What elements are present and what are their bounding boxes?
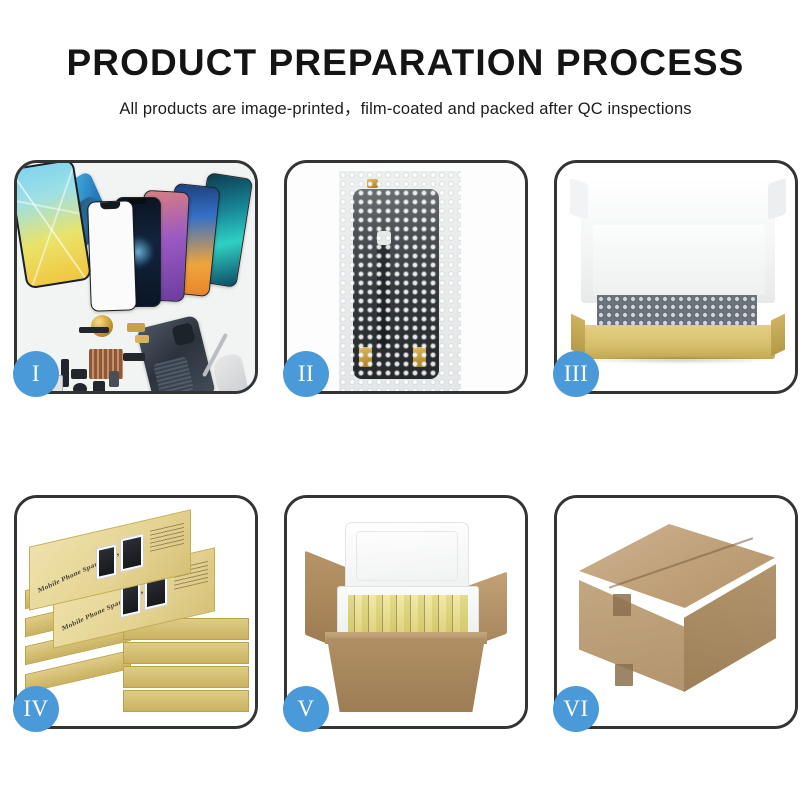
panel-4-step-badge: IV: [13, 686, 59, 732]
mailer-box-front-icon: [581, 325, 775, 359]
panel-2-step-badge: II: [283, 351, 329, 397]
part-bar-icon: [79, 327, 109, 333]
panel-1-step-badge: I: [13, 351, 59, 397]
page-header: PRODUCT PREPARATION PROCESS All products…: [0, 0, 811, 119]
page-title: PRODUCT PREPARATION PROCESS: [0, 44, 811, 83]
mailer-box-shadow-icon: [579, 356, 779, 364]
panel-5-step-badge: V: [283, 686, 329, 732]
page-subtitle: All products are image-printed，film-coat…: [0, 95, 811, 119]
process-step-panel-5[interactable]: V: [284, 495, 528, 729]
box-window-left-icon: [96, 543, 117, 580]
process-step-panel-3[interactable]: III: [554, 160, 798, 394]
part-camera-icon: [73, 383, 87, 391]
panel-6-image: [557, 498, 795, 726]
gold-box-layer-icon: [123, 690, 249, 712]
process-step-panel-2[interactable]: II: [284, 160, 528, 394]
foam-box-lid-icon: [345, 522, 469, 590]
panel-3-image: [557, 163, 795, 391]
phone-chassis-icon: [136, 315, 216, 391]
part-connector-icon: [93, 381, 105, 391]
speaker-coil-icon: [91, 315, 113, 337]
panel-2-image: [287, 163, 525, 391]
bubble-wrap-bag-icon: [339, 171, 461, 391]
gold-box-layer-icon: [123, 666, 249, 688]
gold-box-stack-icon: Mobile Phone Spare Parts Mobile Phone Sp…: [23, 514, 251, 722]
part-gold-bracket-icon: [127, 323, 145, 332]
process-step-panel-4[interactable]: Mobile Phone Spare Parts Mobile Phone Sp…: [14, 495, 258, 729]
panel-4-image: Mobile Phone Spare Parts Mobile Phone Sp…: [17, 498, 255, 726]
part-gold-clip-icon: [135, 335, 149, 343]
process-step-panel-1[interactable]: I: [14, 160, 258, 394]
panel-1-image: [17, 163, 255, 391]
panel-6-step-badge: VI: [553, 686, 599, 732]
carton-tape-upper-icon: [613, 594, 631, 616]
mailer-bubble-contents-icon: [597, 295, 757, 327]
part-module-icon: [71, 369, 87, 379]
hand-icon: [211, 352, 249, 391]
mailer-foam-sheet-icon: [593, 225, 765, 295]
carton-body-icon: [327, 638, 485, 712]
process-panel-grid: I II III: [14, 160, 797, 729]
box-spec-lines-icon: [150, 522, 184, 552]
gold-box-layer-icon: [123, 642, 249, 664]
bubble-texture-icon: [339, 171, 461, 391]
panel-3-step-badge: III: [553, 351, 599, 397]
phone-glass-white-icon: [87, 200, 137, 312]
part-strip-icon: [123, 353, 145, 361]
panel-5-image: [287, 498, 525, 726]
carton-tape-lower-icon: [615, 664, 633, 686]
process-step-panel-6[interactable]: VI: [554, 495, 798, 729]
box-window-right-icon: [120, 533, 144, 573]
part-battery-icon: [109, 371, 119, 387]
